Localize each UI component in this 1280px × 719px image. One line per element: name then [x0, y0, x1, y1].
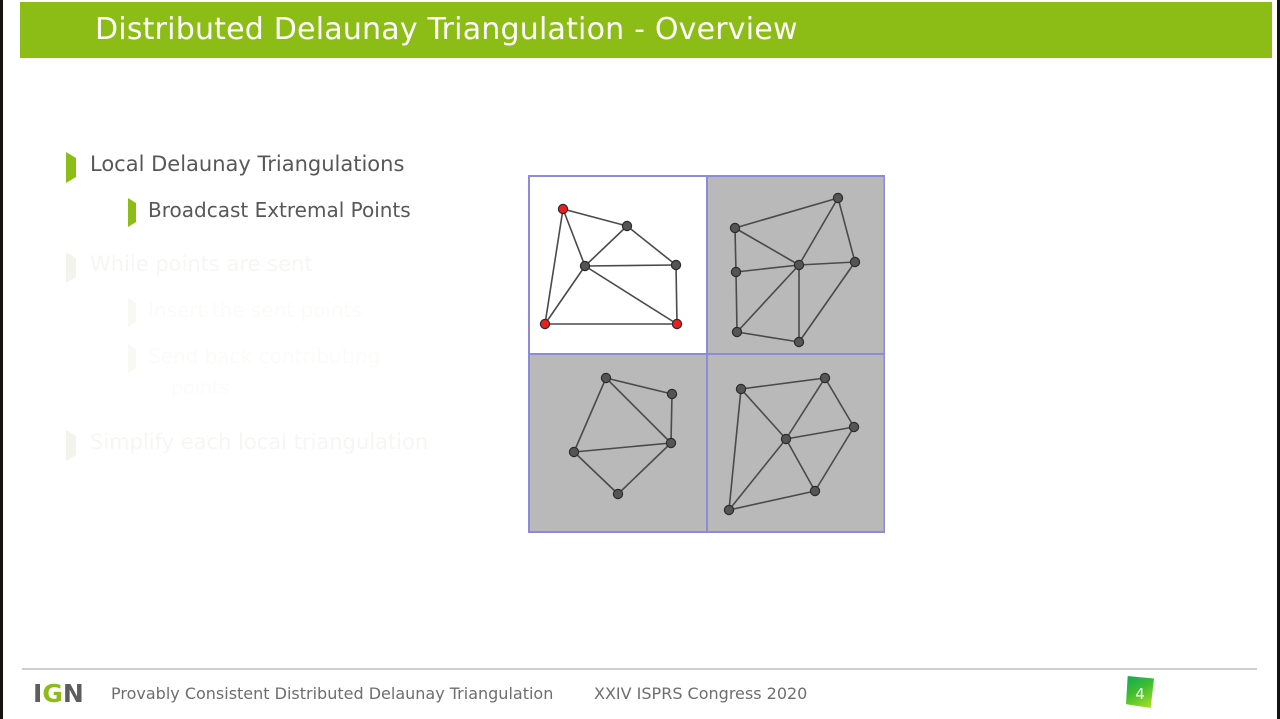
footer-event: XXIV ISPRS Congress 2020	[594, 684, 807, 703]
triangulation-node	[736, 384, 745, 393]
spacer	[66, 406, 536, 428]
triangulation-node	[671, 260, 680, 269]
figure-panel-bottom-left	[530, 355, 706, 531]
triangle-bullet-icon	[128, 303, 138, 313]
figure-panel-bottom-right	[708, 355, 884, 531]
triangulation-node	[730, 223, 739, 232]
triangulation-node	[622, 221, 631, 230]
bullet-label: Send back contributing	[148, 342, 380, 370]
triangle-bullet-icon	[66, 158, 78, 170]
triangulation-node	[781, 434, 790, 443]
triangulation-node	[613, 489, 622, 498]
bullet-item-insert-the-sent-points: Insert the sent points	[128, 296, 536, 324]
triangulation-node	[794, 337, 803, 346]
page-title: Distributed Delaunay Triangulation - Ove…	[95, 12, 798, 47]
figure-panel-top-left	[530, 177, 706, 353]
triangulation-node	[849, 422, 858, 431]
bullet-item-points-continuation: points	[171, 374, 536, 402]
delaunay-figure-svg	[528, 175, 885, 533]
spacer	[66, 328, 536, 342]
ign-logo-accent: G	[42, 679, 63, 708]
triangulation-edge	[735, 228, 736, 272]
bullet-item-send-back-contributing: Send back contributing	[128, 342, 536, 370]
triangulation-node	[732, 327, 741, 336]
spacer	[66, 182, 536, 196]
triangulation-node	[724, 505, 733, 514]
bullet-label: Local Delaunay Triangulations	[90, 150, 404, 178]
triangle-bullet-icon	[128, 203, 138, 213]
triangulation-node	[580, 261, 589, 270]
triangle-bullet-icon	[66, 436, 78, 448]
triangulation-node	[569, 447, 578, 456]
page-number: 4	[1126, 685, 1154, 703]
spacer	[66, 228, 536, 250]
footer: IGN Provably Consistent Distributed Dela…	[0, 676, 1280, 716]
triangulation-node	[666, 438, 675, 447]
bullet-label: Insert the sent points	[148, 296, 362, 324]
triangulation-edge	[676, 265, 677, 324]
triangulation-edge	[671, 394, 672, 443]
bullet-label: points	[171, 374, 229, 402]
triangulation-node	[833, 193, 842, 202]
triangulation-node	[601, 373, 610, 382]
footer-paper-title: Provably Consistent Distributed Delaunay…	[111, 684, 553, 703]
bullet-item-simplify-each-local-triangulation: Simplify each local triangulation	[66, 428, 536, 456]
triangulation-edge	[585, 265, 676, 266]
bullet-label: Broadcast Extremal Points	[148, 196, 411, 224]
title-bar: Distributed Delaunay Triangulation - Ove…	[20, 2, 1272, 58]
delaunay-figure	[528, 175, 885, 533]
triangle-bullet-icon	[128, 349, 138, 359]
triangulation-edge	[736, 272, 737, 332]
bullet-item-while-points-are-sent: While points are sent	[66, 250, 536, 278]
footer-divider	[22, 668, 1257, 670]
bullet-label: While points are sent	[90, 250, 313, 278]
triangulation-node	[810, 486, 819, 495]
slide-left-edge	[0, 0, 3, 719]
bullet-item-local-delaunay-triangulations: Local Delaunay Triangulations	[66, 150, 536, 178]
ign-logo: IGN	[33, 679, 84, 708]
triangulation-node	[667, 389, 676, 398]
triangulation-node	[850, 257, 859, 266]
extremal-point-node	[540, 319, 549, 328]
bullet-list: Local Delaunay Triangulations Broadcast …	[66, 150, 536, 460]
bullet-item-broadcast-extremal-points: Broadcast Extremal Points	[128, 196, 536, 224]
figure-panel-top-right	[708, 177, 884, 353]
extremal-point-node	[672, 319, 681, 328]
triangulation-node	[820, 373, 829, 382]
spacer	[66, 282, 536, 296]
page-number-badge: 4	[1126, 676, 1154, 708]
slide: Distributed Delaunay Triangulation - Ove…	[0, 0, 1280, 719]
extremal-point-node	[558, 204, 567, 213]
triangulation-node	[794, 260, 803, 269]
triangle-bullet-icon	[66, 258, 78, 270]
bullet-label: Simplify each local triangulation	[90, 428, 428, 456]
triangulation-node	[731, 267, 740, 276]
